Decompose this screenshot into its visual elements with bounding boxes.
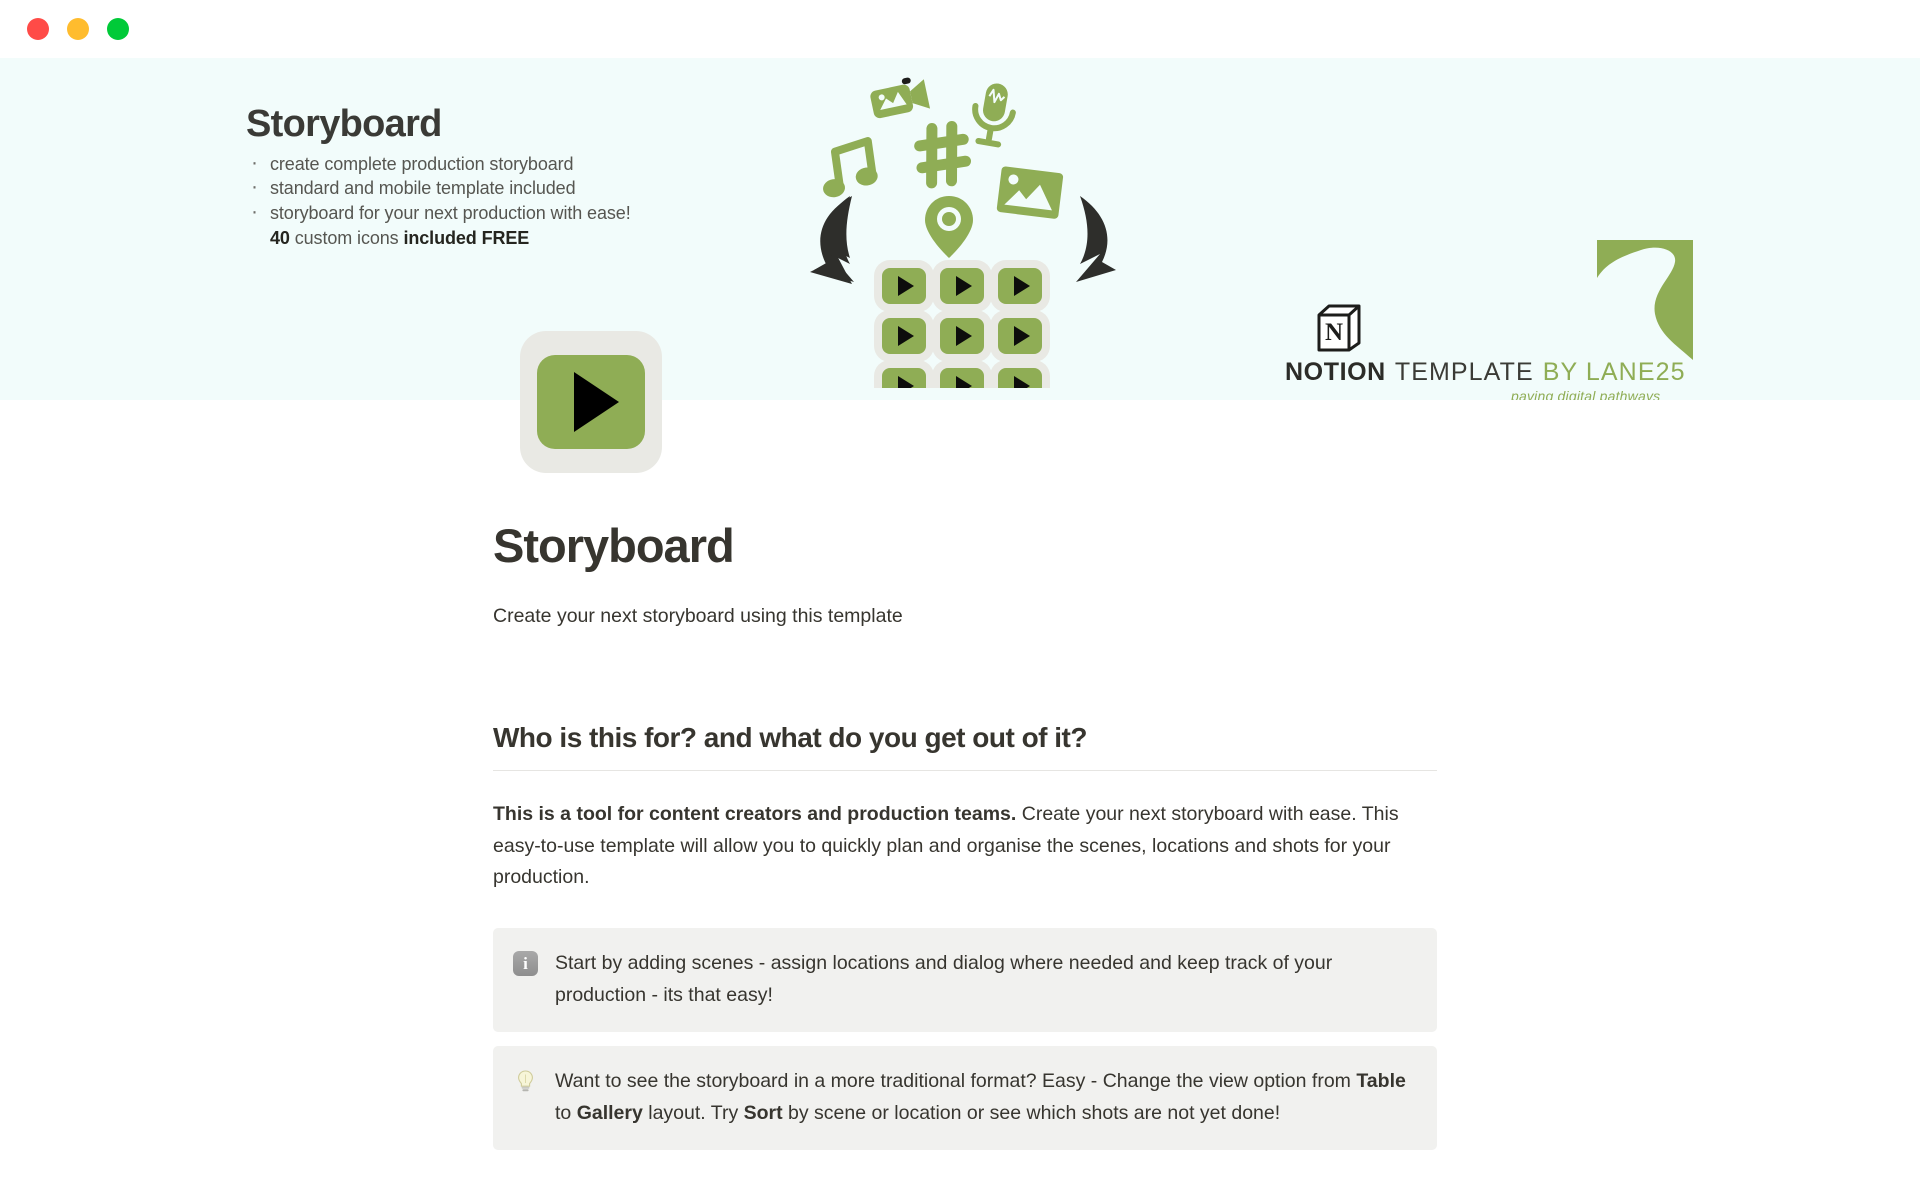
brand-tagline: paving digital pathways	[1511, 388, 1660, 400]
winding-road-icon	[1597, 240, 1693, 360]
callout-info[interactable]: i Start by adding scenes - assign locati…	[493, 928, 1437, 1032]
callout-tip-span: Want to see the storyboard in a more tra…	[555, 1070, 1356, 1092]
page-title[interactable]: Storyboard	[493, 520, 1437, 572]
notion-logo-icon: N	[1315, 303, 1363, 353]
callout-tip-text: Want to see the storyboard in a more tra…	[555, 1066, 1415, 1129]
cover-bullet-3: storyboard for your next production with…	[246, 201, 766, 226]
cover-free-icons-line: 40 custom icons included FREE	[246, 228, 766, 249]
minimize-window-button[interactable]	[67, 18, 89, 40]
brand-lockup: N NOTION TEMPLATE BY LANE25 paving digit…	[1285, 270, 1705, 400]
traffic-lights	[27, 18, 129, 40]
cover-free-middle: custom icons	[290, 228, 404, 248]
arrow-down-right-icon	[1076, 196, 1116, 282]
close-window-button[interactable]	[27, 18, 49, 40]
music-note-icon	[817, 140, 880, 198]
callout-tip-span: layout. Try	[643, 1102, 744, 1124]
image-icon	[996, 166, 1063, 219]
arrow-down-left-icon	[810, 196, 854, 284]
cover-icon-count: 40	[270, 228, 290, 248]
play-triangle-icon	[574, 372, 619, 432]
cover-bullet-2: standard and mobile template included	[246, 176, 766, 201]
wordmark-template: TEMPLATE	[1395, 358, 1534, 387]
section-divider	[493, 770, 1437, 771]
callout-tip-span: to	[555, 1102, 577, 1124]
lightbulb-emoji-icon	[513, 1069, 538, 1094]
window-title-bar	[0, 0, 1920, 58]
wordmark-notion: NOTION	[1285, 358, 1386, 387]
brand-wordmark: NOTION TEMPLATE BY LANE25	[1285, 358, 1686, 387]
microphone-icon	[969, 80, 1017, 149]
cover-text-block: Storyboard create complete production st…	[246, 104, 766, 249]
video-camera-icon	[868, 74, 930, 120]
page-icon-inner	[537, 355, 645, 449]
play-button-grid	[874, 260, 1050, 388]
cover-title: Storyboard	[246, 104, 766, 146]
cover-feature-list: create complete production storyboard st…	[246, 152, 766, 226]
page-cover-image[interactable]: Storyboard create complete production st…	[0, 58, 1920, 400]
callout-info-text: Start by adding scenes - assign location…	[555, 948, 1415, 1011]
paragraph-bold-lead: This is a tool for content creators and …	[493, 803, 1016, 825]
cover-free-emphasis: included FREE	[403, 228, 529, 248]
zoom-window-button[interactable]	[107, 18, 129, 40]
callout-tip-bold: Table	[1356, 1070, 1405, 1092]
section-heading[interactable]: Who is this for? and what do you get out…	[493, 720, 1437, 770]
page-subtitle[interactable]: Create your next storyboard using this t…	[493, 602, 1437, 631]
callout-tip-bold: Gallery	[577, 1102, 643, 1124]
callout-tip-span: by scene or location or see which shots …	[783, 1102, 1281, 1124]
callout-tip-bold: Sort	[744, 1102, 783, 1124]
callout-tip[interactable]: Want to see the storyboard in a more tra…	[493, 1046, 1437, 1150]
section-paragraph[interactable]: This is a tool for content creators and …	[493, 799, 1437, 894]
location-pin-icon	[925, 196, 973, 258]
cover-illustration	[810, 68, 1120, 388]
page-icon-play-button[interactable]	[520, 331, 662, 473]
wordmark-by-lane: BY LANE25	[1543, 358, 1686, 387]
info-emoji-icon: i	[513, 951, 538, 976]
hashtag-icon	[918, 125, 967, 183]
svg-text:N: N	[1325, 319, 1343, 346]
cover-bullet-1: create complete production storyboard	[246, 152, 766, 177]
page-content: Storyboard Create your next storyboard u…	[493, 520, 1437, 1150]
